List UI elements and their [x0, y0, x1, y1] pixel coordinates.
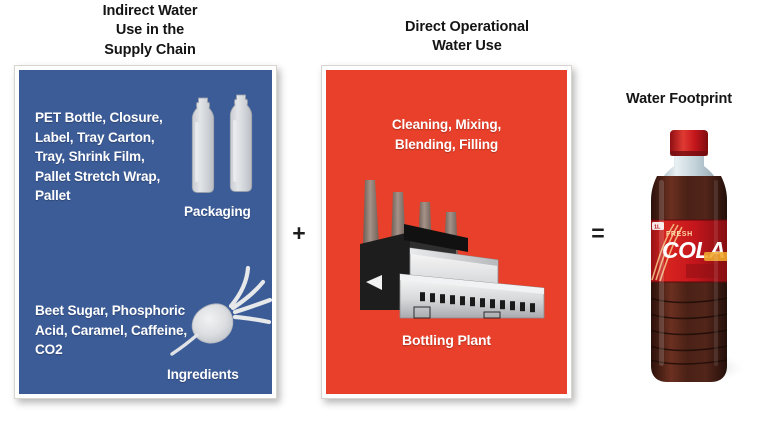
operational-process-text: Cleaning, Mixing, Blending, Filling	[326, 115, 567, 154]
heading-indirect-water-use: Indirect Water Use in the Supply Chain	[40, 2, 260, 60]
heading-water-footprint: Water Footprint	[600, 90, 758, 109]
sugar-beet-icon	[169, 262, 273, 366]
panel-direct-operational: Cleaning, Mixing, Blending, Filling	[321, 65, 572, 399]
equals-operator: =	[582, 222, 614, 245]
caption-packaging: Packaging	[184, 204, 251, 219]
plastic-bottles-icon	[181, 92, 273, 200]
cola-bottle-icon: FRESH COLA 1L	[630, 128, 748, 390]
diagram-canvas: Indirect Water Use in the Supply Chain D…	[0, 0, 759, 422]
caption-bottling-plant: Bottling Plant	[326, 332, 567, 348]
panel-indirect-water-use: PET Bottle, Closure, Label, Tray Carton,…	[14, 65, 277, 399]
panel-operational-body: Cleaning, Mixing, Blending, Filling	[326, 70, 567, 394]
packaging-items-list: PET Bottle, Closure, Label, Tray Carton,…	[35, 108, 183, 206]
plus-operator: +	[283, 222, 315, 245]
caption-ingredients: Ingredients	[167, 367, 239, 382]
factory-icon	[348, 178, 553, 321]
heading-direct-operational-water-use: Direct Operational Water Use	[352, 18, 582, 57]
panel-indirect-body: PET Bottle, Closure, Label, Tray Carton,…	[19, 70, 272, 394]
